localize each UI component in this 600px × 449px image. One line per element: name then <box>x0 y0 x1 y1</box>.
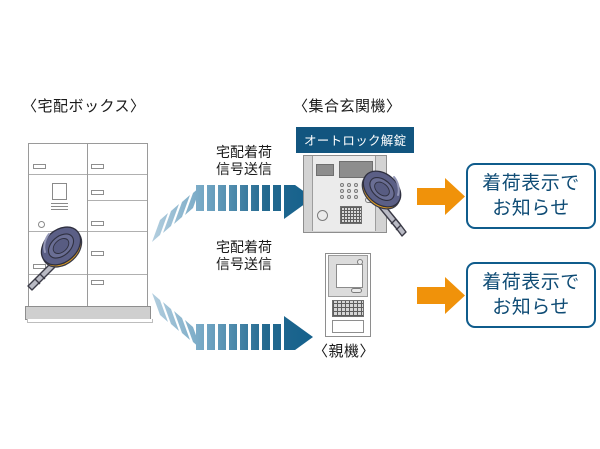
diagram-canvas: 〈宅配ボックス〉 <box>0 0 600 449</box>
signal-top-line1: 宅配着荷 <box>196 145 292 162</box>
delivery-box-title: 〈宅配ボックス〉 <box>22 95 146 116</box>
locker-divider <box>88 274 147 275</box>
parent-unit-lower-panel <box>332 320 364 333</box>
result-bottom-line2: お知らせ <box>492 295 570 320</box>
locker-divider <box>29 174 87 175</box>
locker-door-handle[interactable] <box>91 190 104 195</box>
locker-divider <box>88 200 147 201</box>
entrance-panel-title: 〈集合玄関機〉 <box>293 95 402 116</box>
signal-label-top: 宅配着荷 信号送信 <box>196 145 292 179</box>
parent-unit-speaker-grille <box>332 300 364 317</box>
signal-bottom-line1: 宅配着荷 <box>196 240 292 257</box>
parent-unit-display <box>336 264 363 288</box>
locker-door-handle[interactable] <box>91 164 104 169</box>
result-top-line1: 着荷表示で <box>482 171 580 196</box>
parcel-slot-icon <box>52 183 67 200</box>
result-box-top: 着荷表示で お知らせ <box>466 163 596 229</box>
orange-block-arrow-icon <box>417 178 465 215</box>
parent-unit-title: 〈親機〉 <box>313 340 375 361</box>
entrance-panel-camera-icon <box>317 210 328 221</box>
signal-label-bottom: 宅配着荷 信号送信 <box>196 240 292 274</box>
parent-unit-illustration <box>325 253 371 337</box>
locker-divider <box>88 231 147 232</box>
result-bottom-line1: 着荷表示で <box>482 270 580 295</box>
signal-bottom-line2: 信号送信 <box>196 257 292 274</box>
key-icon <box>16 218 94 292</box>
result-top-line2: お知らせ <box>492 196 570 221</box>
parcel-label-lines-icon <box>51 203 68 210</box>
locker-divider <box>88 174 147 175</box>
parent-unit-button[interactable] <box>351 288 362 293</box>
key-icon <box>350 162 416 240</box>
locker-base-shadow <box>27 319 153 323</box>
signal-top-line2: 信号送信 <box>196 162 292 179</box>
orange-block-arrow-icon <box>417 277 465 314</box>
parent-unit-head <box>328 255 368 297</box>
entrance-panel-indicator <box>316 164 334 176</box>
autolock-badge: オートロック解錠 <box>296 127 414 153</box>
result-box-bottom: 着荷表示で お知らせ <box>466 262 596 328</box>
locker-base <box>25 306 151 320</box>
locker-door-handle[interactable] <box>33 164 46 169</box>
